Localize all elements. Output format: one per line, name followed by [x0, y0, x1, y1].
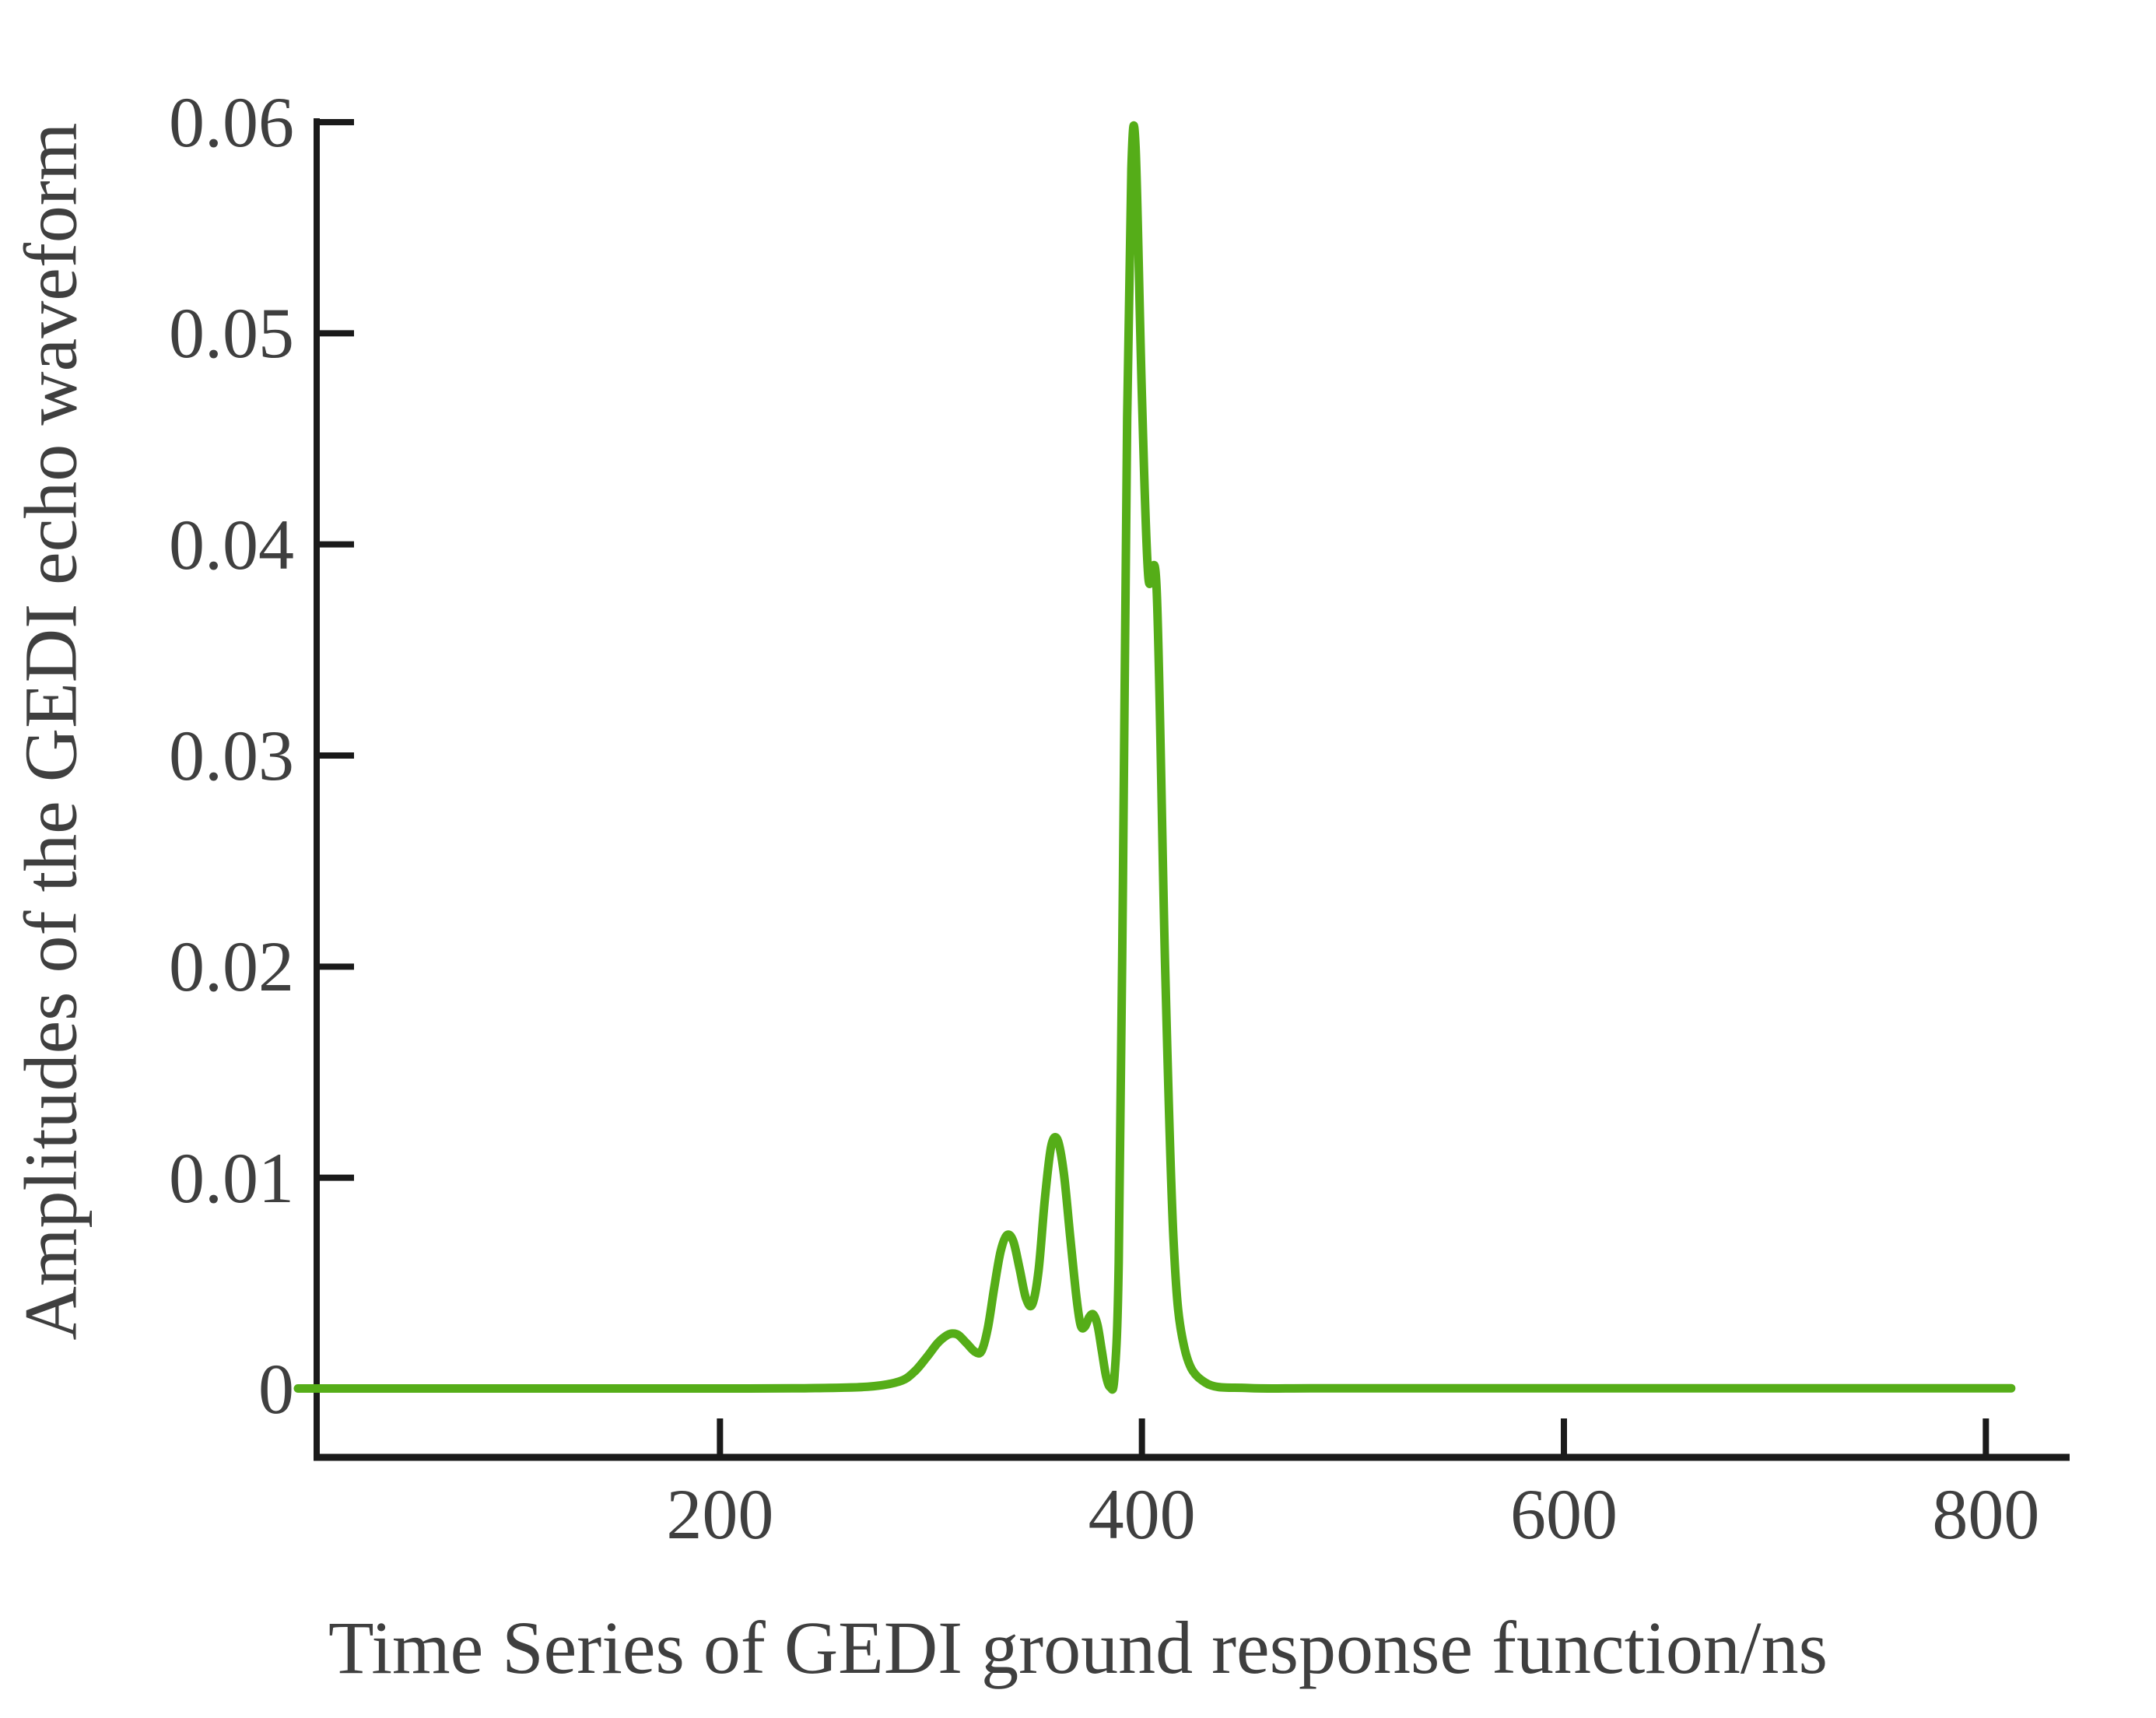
axis-lines	[314, 118, 2070, 1460]
chart-figure: Amplitudes of the GEDI echo waveform 00.…	[0, 0, 2156, 1718]
y-axis-ticks	[317, 122, 354, 1389]
x-axis-ticks	[720, 1418, 1986, 1457]
data-series-group	[298, 125, 2011, 1389]
waveform-line	[298, 125, 2011, 1389]
plot-area	[0, 0, 2156, 1718]
